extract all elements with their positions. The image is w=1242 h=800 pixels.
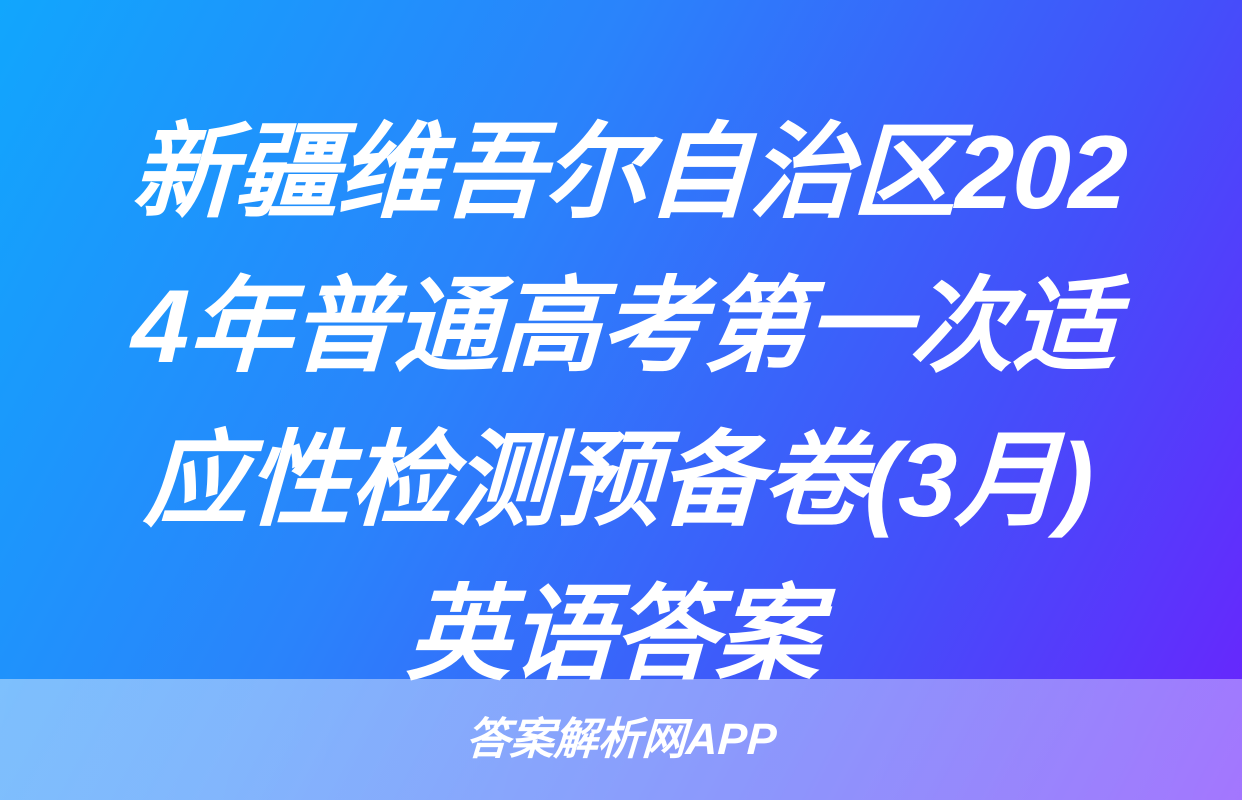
footer-brand-label: 答案解析网APP xyxy=(465,718,778,762)
footer-brand-band: 答案解析网APP xyxy=(0,679,1242,800)
title-block: 新疆维吾尔自治区2024年普通高考第一次适应性检测预备卷(3月)英语答案 xyxy=(0,96,1242,679)
poster-canvas: 新疆维吾尔自治区2024年普通高考第一次适应性检测预备卷(3月)英语答案 答案解… xyxy=(0,0,1242,800)
page-title: 新疆维吾尔自治区2024年普通高考第一次适应性检测预备卷(3月)英语答案 xyxy=(87,96,1155,712)
